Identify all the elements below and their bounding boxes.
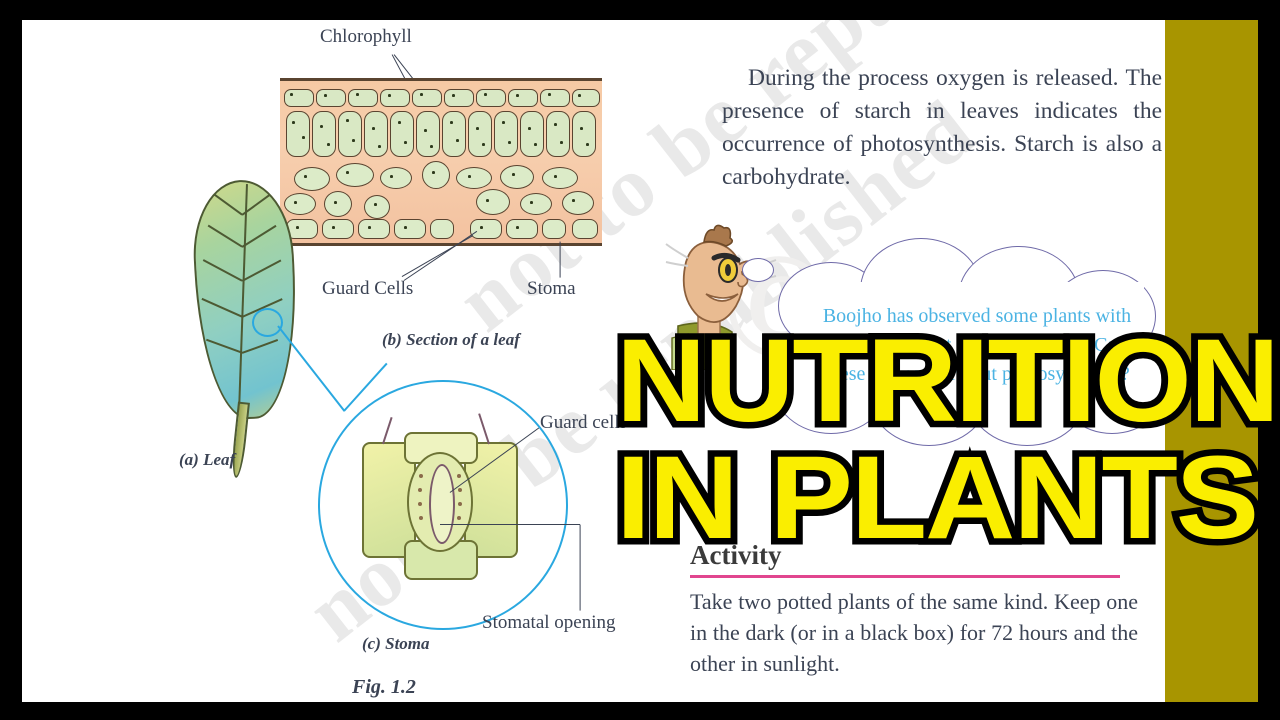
label-guard-cells-stoma: Guard cells <box>540 412 627 434</box>
title-line-1: NUTRITION <box>616 326 1280 437</box>
stoma-stalk-right <box>478 413 490 444</box>
stoma-pore-outer <box>407 452 473 552</box>
figure-1-2: Chlorophyll <box>22 20 662 702</box>
figure-caption: Fig. 1.2 <box>352 676 416 699</box>
label-guard-cells-section: Guard Cells <box>322 278 413 300</box>
leaf-diagram <box>182 180 312 470</box>
caption-a-leaf: (a) Leaf <box>179 450 235 470</box>
stoma-diagram <box>360 418 518 590</box>
leaf-cross-section-diagram <box>280 78 602 246</box>
video-title-overlay: NUTRITION IN PLANTS <box>616 326 1280 554</box>
label-chlorophyll: Chlorophyll <box>320 26 412 48</box>
label-stoma-section: Stoma <box>527 278 576 300</box>
stoma-stalk-left <box>382 417 393 444</box>
leader-stomatal-opening-h <box>440 524 580 525</box>
bubble-tail <box>742 258 774 282</box>
video-thumbnail-canvas: not to be republished not to be republis… <box>0 0 1280 720</box>
stomatal-opening-pore <box>429 464 455 544</box>
caption-b-section-of-leaf: (b) Section of a leaf <box>382 330 520 350</box>
leaf-zoom-callout-circle <box>252 308 283 337</box>
label-stomatal-opening: Stomatal opening <box>482 612 616 634</box>
caption-c-stoma: (c) Stoma <box>362 634 430 654</box>
title-line-2: IN PLANTS <box>616 443 1280 554</box>
body-paragraph: During the process oxygen is released. T… <box>722 62 1162 194</box>
leader-stomatal-opening-v <box>579 525 580 611</box>
leader-stoma <box>559 242 560 278</box>
activity-rule <box>690 575 1120 578</box>
activity-text: Take two potted plants of the same kind.… <box>690 586 1138 679</box>
